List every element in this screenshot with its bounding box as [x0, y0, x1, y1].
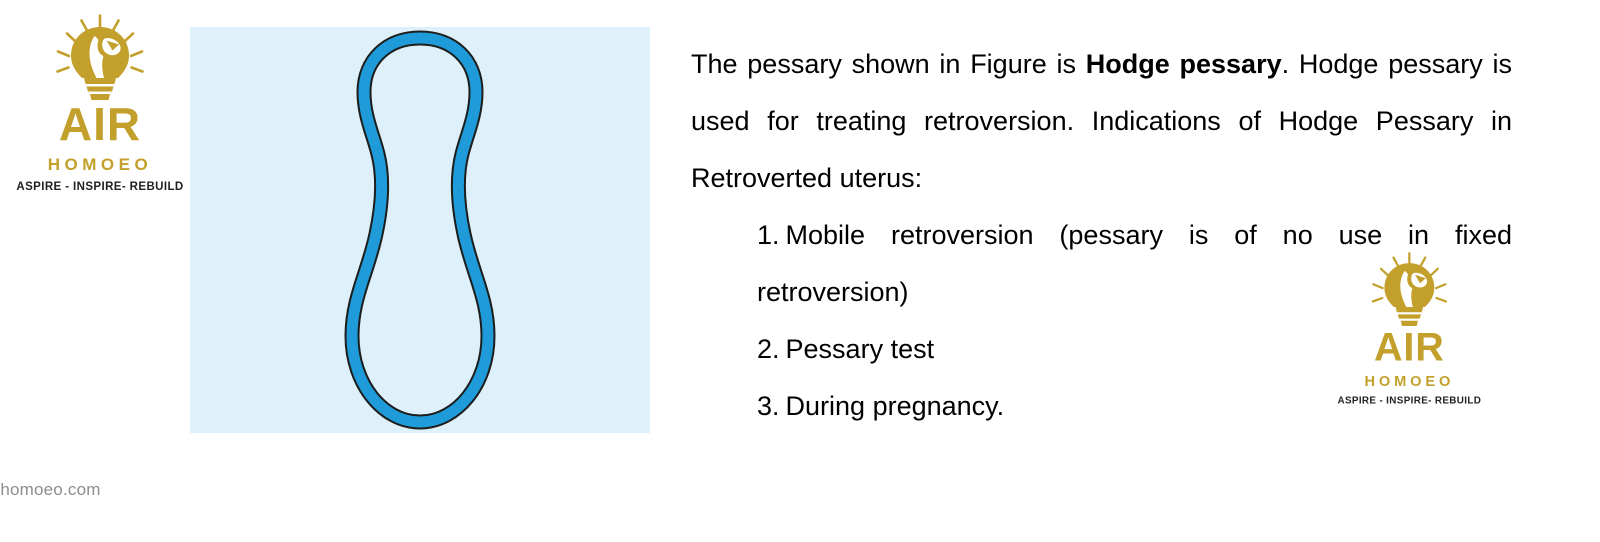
- brand-name-homoeo: HOMOEO: [1364, 374, 1454, 389]
- hodge-pessary-illustration: [310, 30, 530, 430]
- brand-tagline: ASPIRE - INSPIRE- REBUILD: [16, 182, 183, 194]
- footer-url-label: www.airhomoeo.com: [0, 480, 101, 499]
- pessary-figure-panel: [190, 27, 650, 433]
- list-item-label: During pregnancy.: [786, 391, 1005, 421]
- lightbulb-graduate-icon: [24, 14, 176, 100]
- lightbulb-graduate-icon: [1344, 252, 1475, 326]
- footer-website-url: www.airhomoeo.com: [0, 480, 1600, 500]
- pessary-name-emphasis: Hodge pessary: [1086, 49, 1282, 79]
- brand-logo-watermark: AIR HOMOEO ASPIRE - INSPIRE- REBUILD: [1344, 252, 1475, 406]
- list-item-marker: 3.: [757, 391, 780, 421]
- list-item-marker: 2.: [757, 334, 780, 364]
- paragraph-part-1: The pessary shown in Figure is: [691, 49, 1086, 79]
- brand-tagline: ASPIRE - INSPIRE- REBUILD: [1337, 396, 1481, 406]
- list-item-marker: 1.: [757, 220, 780, 250]
- brand-logo-primary: AIR HOMOEO ASPIRE - INSPIRE- REBUILD: [24, 14, 176, 194]
- brand-name-air: AIR: [1374, 327, 1445, 367]
- brand-name-air: AIR: [59, 101, 141, 147]
- description-paragraph: The pessary shown in Figure is Hodge pes…: [691, 36, 1512, 207]
- list-item-label: Pessary test: [786, 334, 935, 364]
- brand-name-homoeo: HOMOEO: [48, 156, 152, 173]
